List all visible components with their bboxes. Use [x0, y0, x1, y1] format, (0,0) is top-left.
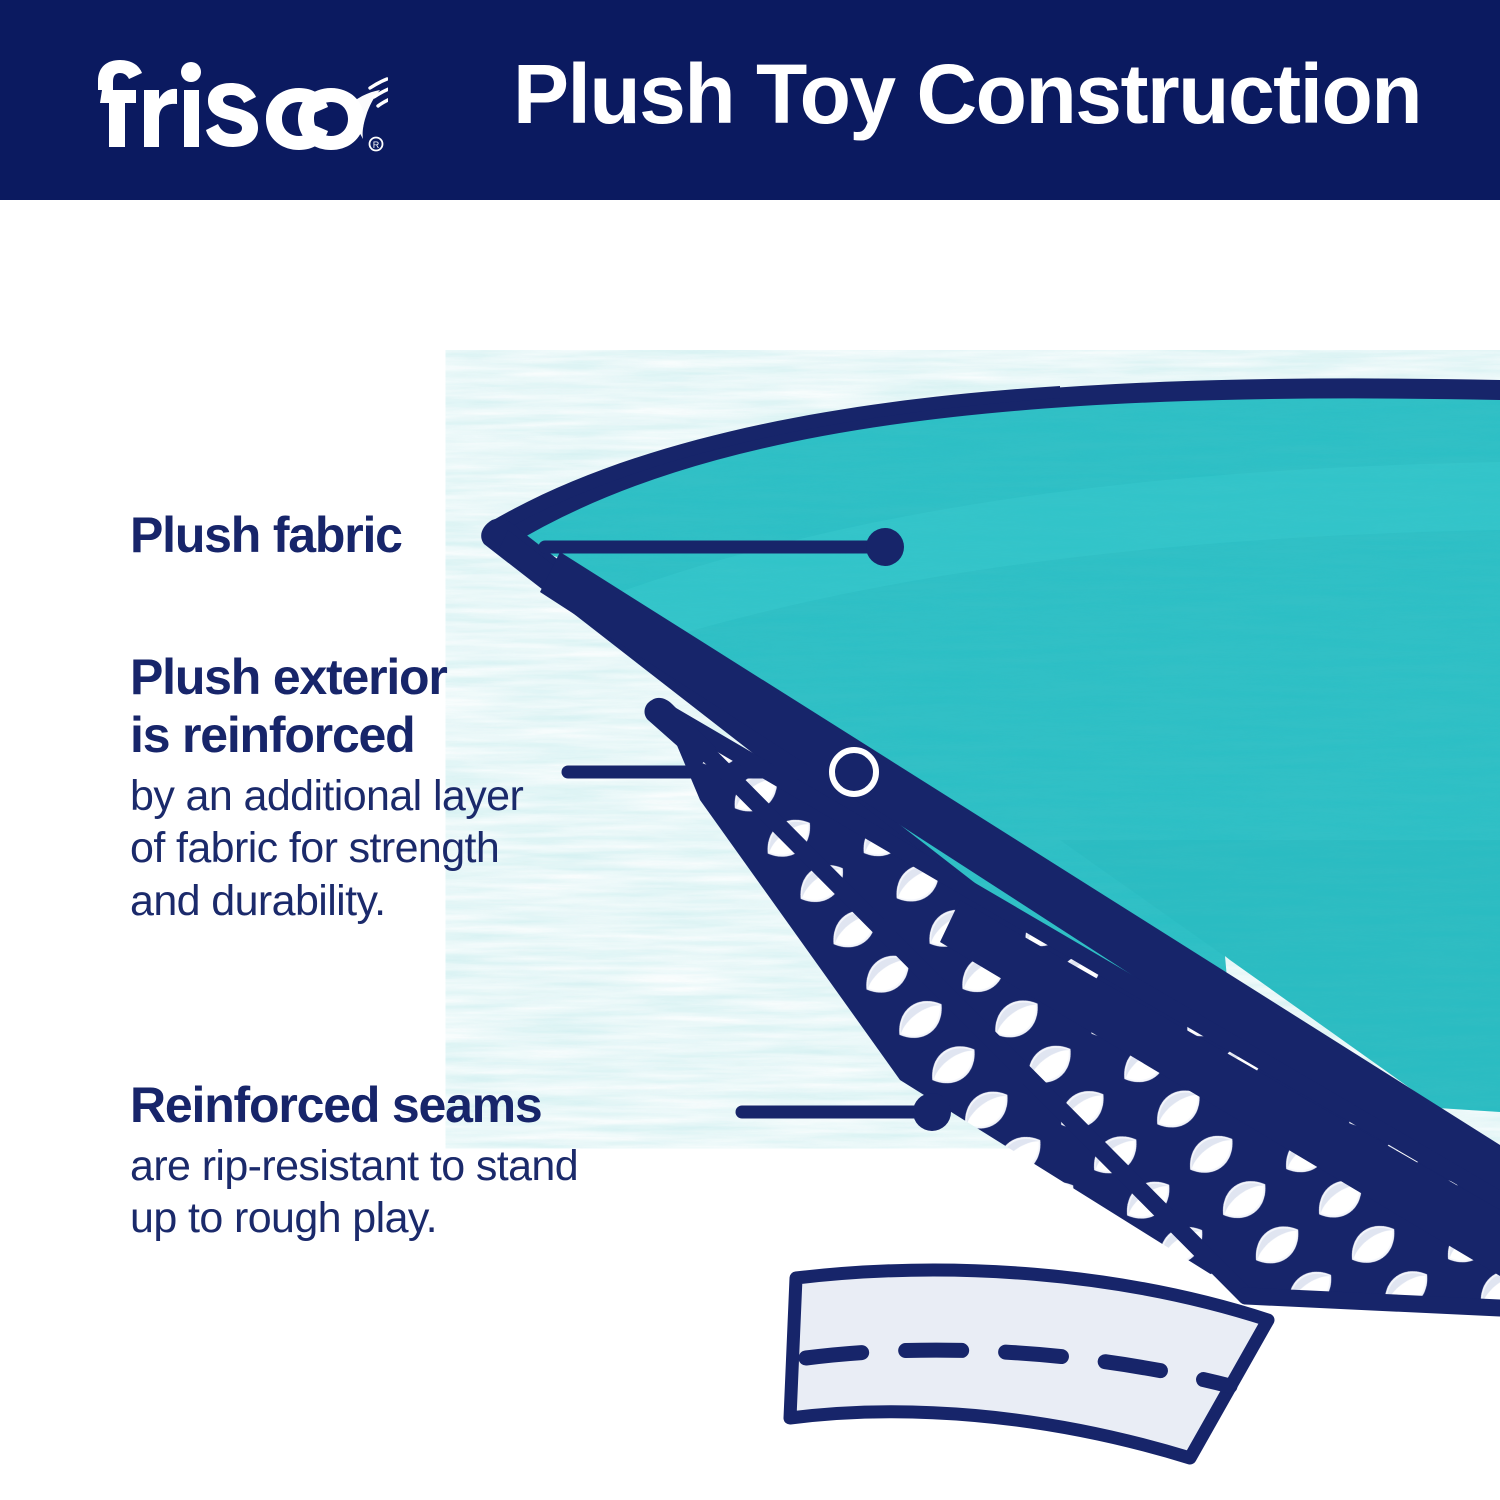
callout-body-reinforced-seams: are rip-resistant to stand up to rough p… [130, 1140, 810, 1245]
leader-dot-plush-exterior [836, 754, 872, 790]
page-title: Plush Toy Construction [513, 48, 1421, 140]
infographic-page: R Plush Toy Construction [0, 0, 1500, 1500]
callout-reinforced-seams: Reinforced seams are rip-resistant to st… [130, 1076, 810, 1245]
leader-dot-reinforced-seams [913, 1093, 951, 1131]
callout-heading-reinforced-seams: Reinforced seams [130, 1076, 810, 1134]
header-bar: R Plush Toy Construction [0, 0, 1500, 200]
registered-trademark-icon: R [370, 138, 383, 151]
leader-dot-plush-fabric [866, 528, 904, 566]
callout-plush-fabric: Plush fabric [130, 506, 650, 564]
svg-text:R: R [373, 140, 380, 150]
callout-heading-plush-fabric: Plush fabric [130, 506, 650, 564]
callout-body-plush-exterior: by an additional layer of fabric for str… [130, 770, 730, 927]
callout-heading-plush-exterior: Plush exterior is reinforced [130, 648, 730, 764]
seam-flap [790, 1270, 1268, 1458]
callout-plush-exterior: Plush exterior is reinforced by an addit… [130, 648, 730, 927]
frisco-wordmark-logo: R [88, 44, 388, 154]
